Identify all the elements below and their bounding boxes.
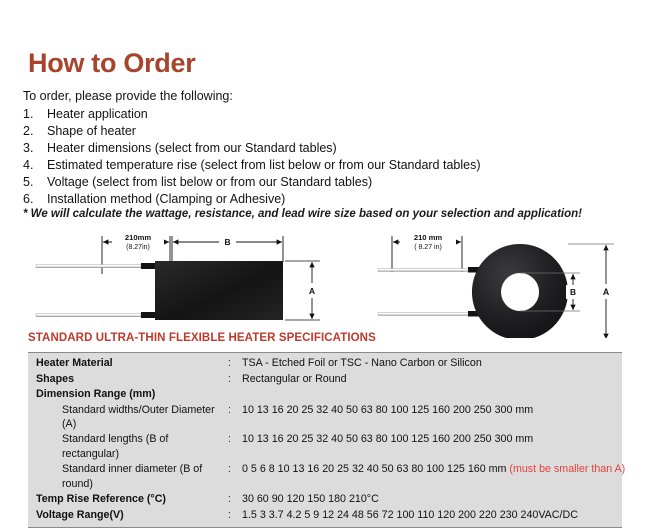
rect-lead-length-mm: 210mm (125, 233, 151, 242)
list-item-number: 2. (23, 123, 47, 140)
rect-lead-crimp-bottom (141, 312, 155, 318)
heater-diagrams: 210mm (8.27in) B A (0, 228, 650, 338)
list-item-number: 3. (23, 140, 47, 157)
diagrams-svg: 210mm (8.27in) B A (0, 228, 650, 338)
list-item-number: 6. (23, 191, 47, 208)
list-item-label: Shape of heater (47, 123, 623, 140)
list-item: 3. Heater dimensions (select from our St… (23, 140, 623, 157)
row-label: Shapes (28, 372, 228, 387)
round-lead-wire-bottom (378, 313, 470, 316)
list-item-label: Estimated temperature rise (select from … (47, 157, 623, 174)
row-label: Standard lengths (B of rectangular) (28, 432, 228, 461)
row-value: 30 60 90 120 150 180 210°C (242, 492, 622, 507)
round-lead-length-in: ( 8.27 in) (414, 244, 442, 251)
spec-table: Heater Material : TSA - Etched Foil or T… (28, 352, 622, 528)
list-item: 1. Heater application (23, 106, 623, 123)
row-label: Heater Material (28, 356, 228, 371)
list-item-label: Voltage (select from list below or from … (47, 174, 623, 191)
intro-text: To order, please provide the following: (23, 89, 233, 103)
round-lead-wire-top (378, 269, 470, 272)
round-inner-label: B (570, 287, 576, 297)
row-label: Temp Rise Reference (°C) (28, 492, 228, 507)
list-item-label: Heater application (47, 106, 623, 123)
list-item: 4. Estimated temperature rise (select fr… (23, 157, 623, 174)
row-value: Rectangular or Round (242, 372, 622, 387)
row-value-wrap: 0 5 6 8 10 13 16 20 25 32 40 50 63 80 10… (242, 462, 625, 477)
table-row: Standard inner diameter (B of round) : 0… (28, 462, 622, 492)
row-value: 1.5 3 3.7 4.2 5 9 12 24 48 56 72 100 110… (242, 508, 622, 523)
rect-lead-wire-top (36, 265, 141, 268)
rect-lead-length-in: (8.27in) (126, 244, 150, 251)
row-value: 10 13 16 20 25 32 40 50 63 80 100 125 16… (242, 403, 622, 418)
row-label: Dimension Range (mm) (28, 387, 228, 402)
rect-lead-crimp-top (141, 263, 155, 269)
list-item: 5. Voltage (select from list below or fr… (23, 174, 623, 191)
row-colon: : (228, 492, 242, 507)
table-row: Temp Rise Reference (°C) : 30 60 90 120 … (28, 492, 622, 507)
rect-width-label: B (224, 237, 230, 247)
table-row: Heater Material : TSA - Etched Foil or T… (28, 356, 622, 371)
list-item-number: 1. (23, 106, 47, 123)
table-row: Shapes : Rectangular or Round (28, 371, 622, 386)
row-colon: : (228, 403, 242, 418)
row-label: Voltage Range(V) (28, 508, 228, 523)
row-value: 10 13 16 20 25 32 40 50 63 80 100 125 16… (242, 432, 622, 447)
row-value: 0 5 6 8 10 13 16 20 25 32 40 50 63 80 10… (242, 463, 509, 475)
rectangular-heater-diagram: 210mm (8.27in) B A (36, 233, 320, 320)
calculation-note: * We will calculate the wattage, resista… (23, 208, 582, 220)
round-heater-diagram: 210 mm ( 8.27 in) B (378, 233, 614, 338)
page-root: How to Order To order, please provide th… (0, 0, 650, 523)
rect-height-label: A (309, 286, 315, 296)
row-colon: : (228, 462, 242, 477)
row-value-warning: (must be smaller than A) (509, 463, 625, 475)
list-item-number: 4. (23, 157, 47, 174)
list-item-number: 5. (23, 174, 47, 191)
page-title: How to Order (28, 50, 195, 77)
round-outer-label: A (603, 287, 610, 297)
row-colon: : (228, 508, 242, 523)
table-row: Dimension Range (mm) (28, 387, 622, 402)
list-item: 2. Shape of heater (23, 123, 623, 140)
row-colon: : (228, 432, 242, 447)
row-colon: : (228, 372, 242, 387)
table-row: Voltage Range(V) : 1.5 3 3.7 4.2 5 9 12 … (28, 507, 622, 522)
row-colon: : (228, 356, 242, 371)
rect-lead-wire-bottom (36, 314, 141, 317)
round-heater-body (472, 244, 568, 338)
table-row: Standard lengths (B of rectangular) : 10… (28, 432, 622, 462)
rect-heater-body (155, 261, 283, 320)
table-row: Standard widths/Outer Diameter (A) : 10 … (28, 402, 622, 432)
list-item-label: Installation method (Clamping or Adhesiv… (47, 191, 623, 208)
list-item: 6. Installation method (Clamping or Adhe… (23, 191, 623, 208)
list-item-label: Heater dimensions (select from our Stand… (47, 140, 623, 157)
row-value: TSA - Etched Foil or TSC - Nano Carbon o… (242, 356, 622, 371)
round-lead-length-mm: 210 mm (414, 233, 443, 242)
row-label: Standard widths/Outer Diameter (A) (28, 403, 228, 432)
spec-section-heading: STANDARD ULTRA-THIN FLEXIBLE HEATER SPEC… (28, 332, 376, 344)
row-label: Standard inner diameter (B of round) (28, 462, 228, 491)
order-steps-list: 1. Heater application 2. Shape of heater… (23, 106, 623, 208)
